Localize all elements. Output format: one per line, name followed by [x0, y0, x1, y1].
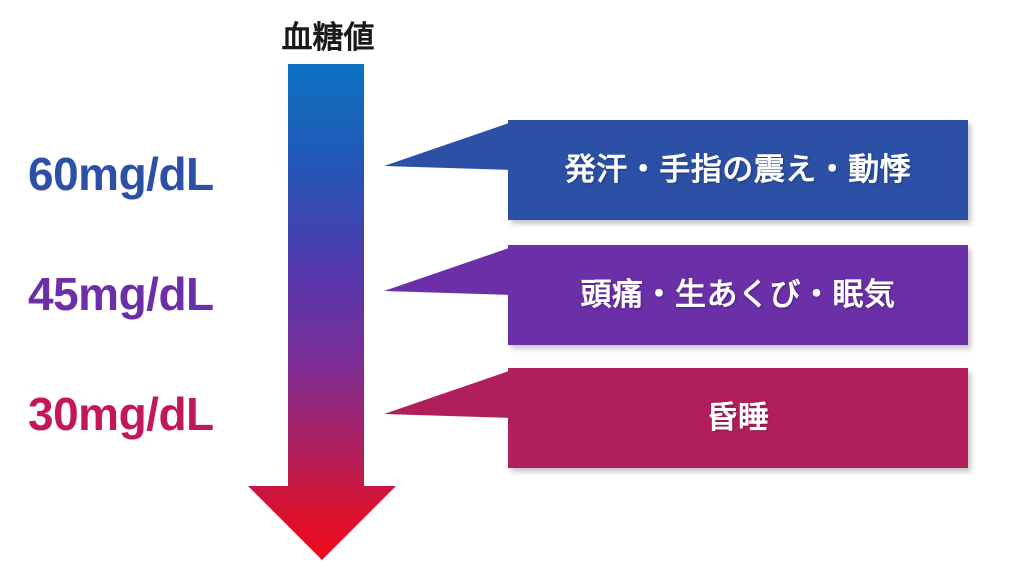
callout-box-moderate-symptoms: 頭痛・生あくび・眠気 — [508, 245, 968, 345]
callout-box-mild-symptoms: 発汗・手指の震え・動悸 — [508, 120, 968, 220]
callout-box-severe-symptoms: 昏睡 — [508, 368, 968, 468]
callout-text-3: 昏睡 — [707, 399, 770, 437]
threshold-label-30: 30mg/dL — [28, 388, 278, 440]
threshold-label-45: 45mg/dL — [28, 268, 278, 320]
callout-pointer-3 — [376, 370, 512, 426]
callout-text-2: 頭痛・生あくび・眠気 — [581, 276, 896, 314]
threshold-label-60: 60mg/dL — [28, 148, 278, 200]
diagram-canvas: 血糖値 60mg/dL 45mg/dL 30mg/dL 発汗・手指の震え・動悸 — [0, 0, 1024, 587]
callout-pointer-2 — [376, 247, 512, 303]
axis-title: 血糖値 — [268, 20, 388, 56]
callout-pointer-1 — [376, 122, 512, 178]
callout-text-1: 発汗・手指の震え・動悸 — [565, 151, 912, 189]
